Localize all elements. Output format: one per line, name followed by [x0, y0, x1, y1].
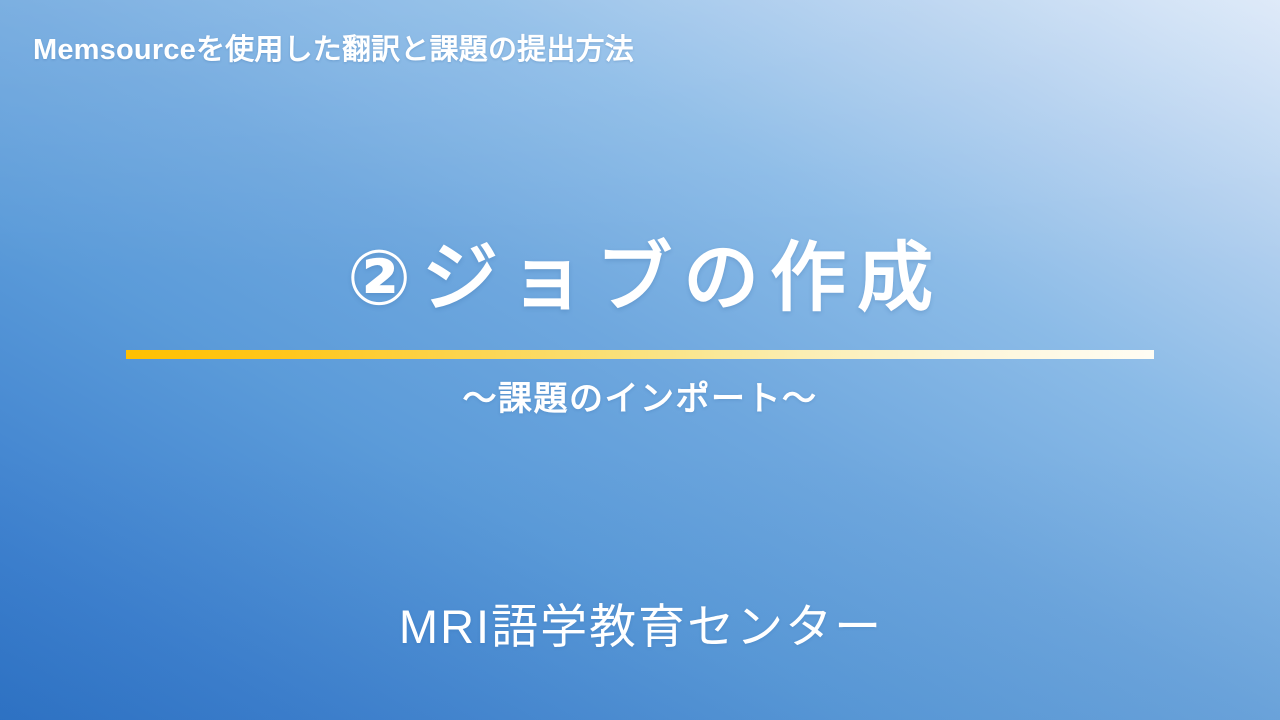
title-block: ②ジョブの作成 [0, 236, 1280, 321]
slide-subtitle: 〜課題のインポート〜 [0, 371, 1280, 420]
slide-header-text: Memsourceを使用した翻訳と課題の提出方法 [33, 33, 634, 68]
slide-main-title: ②ジョブの作成 [0, 236, 1280, 321]
organization-name: MRI語学教育センター [0, 588, 1280, 657]
gradient-rule [126, 350, 1154, 359]
presentation-title-slide: Memsourceを使用した翻訳と課題の提出方法 ②ジョブの作成 〜課題のインポ… [0, 0, 1280, 720]
title-divider [0, 350, 1280, 359]
